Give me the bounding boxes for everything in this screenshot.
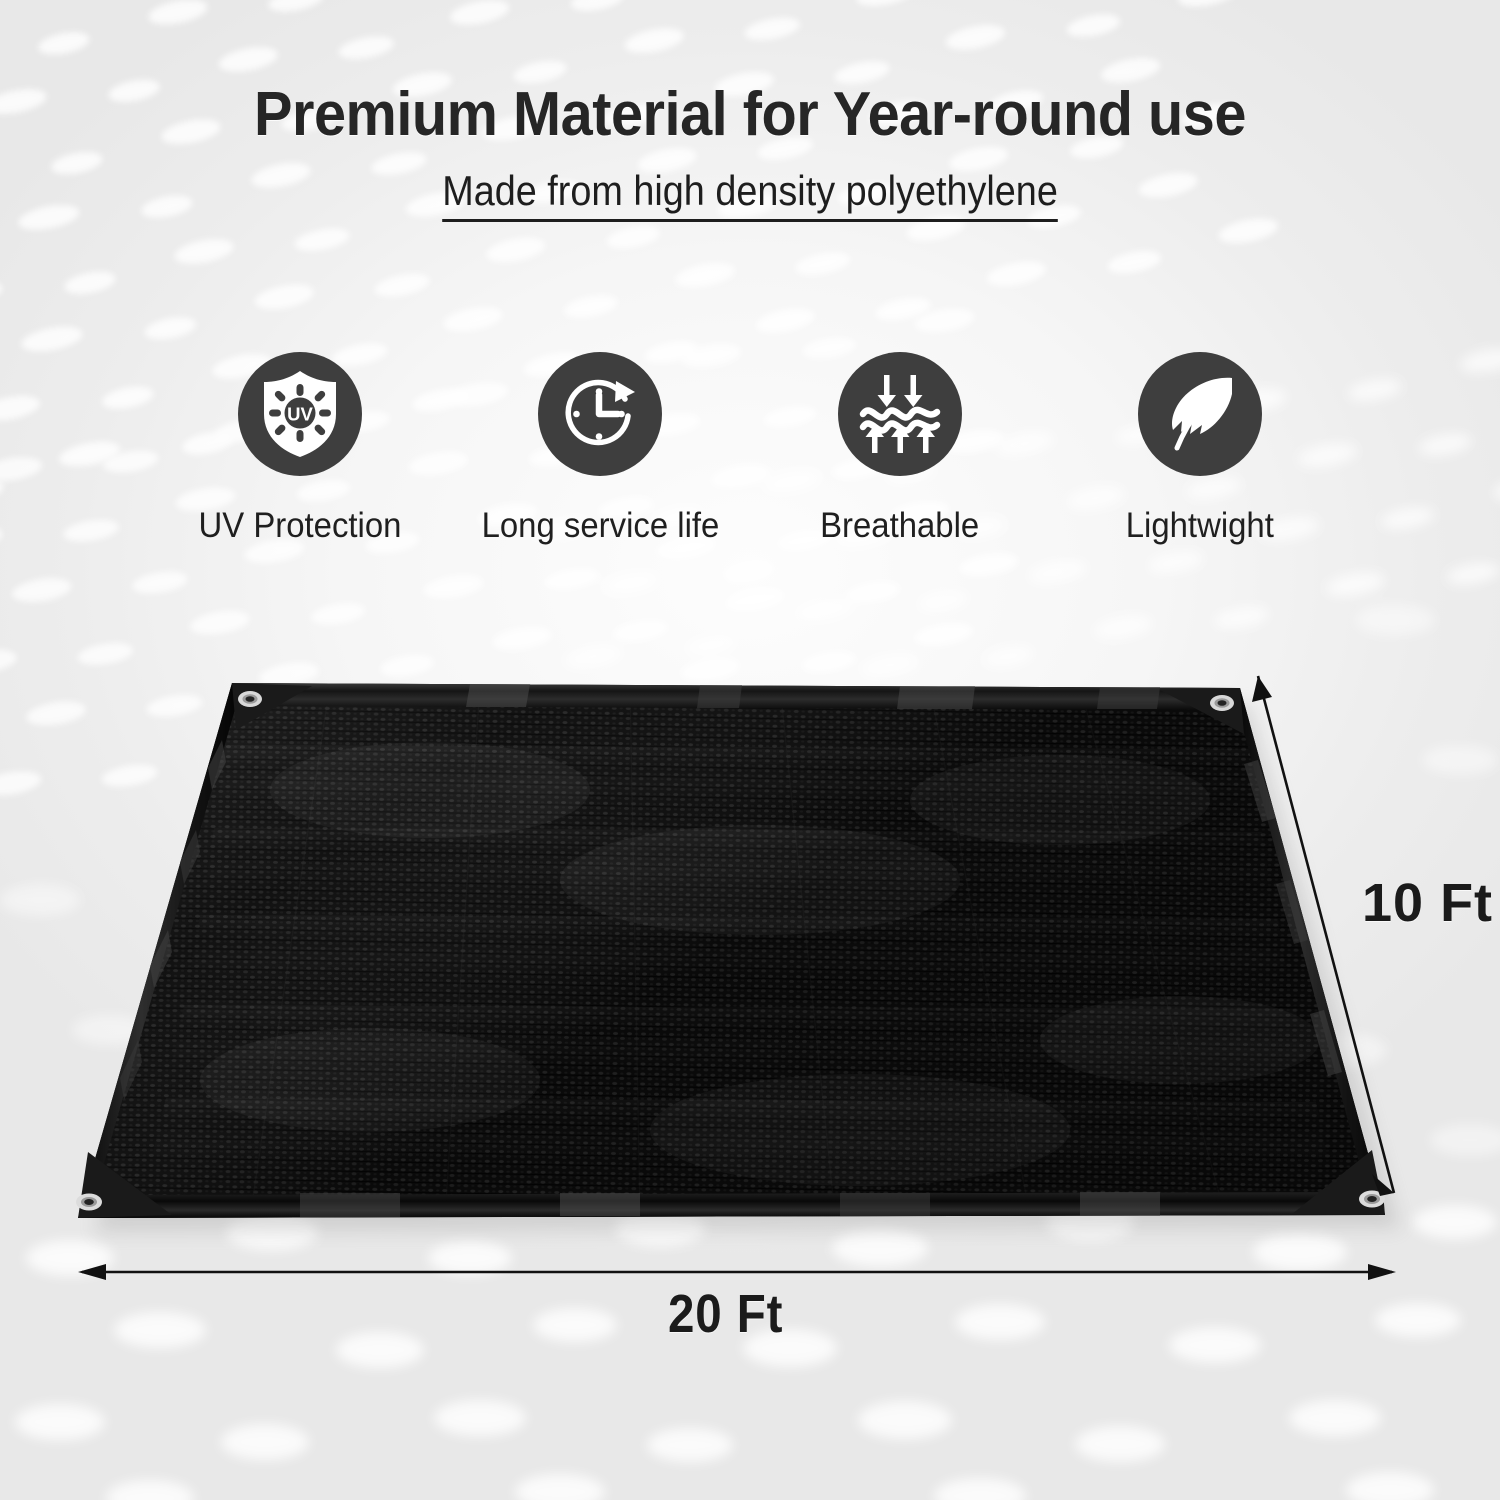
header-block: Premium Material for Year-round use Made…: [0, 84, 1500, 222]
dimension-label-height: 10 Ft: [1362, 872, 1493, 934]
product-infographic-page: Premium Material for Year-round use Made…: [0, 0, 1500, 1500]
feature-label-long-service-life: Long service life: [481, 506, 719, 546]
feather-icon: [1138, 352, 1262, 476]
page-subtitle: Made from high density polyethylene: [442, 170, 1058, 222]
feature-item-long-service-life: Long service life: [450, 352, 750, 546]
uv-shield-icon: UV: [238, 352, 362, 476]
page-title: Premium Material for Year-round use: [53, 84, 1448, 146]
feature-item-lightwight: Lightwight: [1050, 352, 1350, 546]
feature-label-breathable: Breathable: [820, 506, 979, 546]
feature-list: UV UV Protection: [150, 352, 1350, 546]
background-dot-pattern: [0, 0, 1500, 1500]
feature-item-breathable: Breathable: [750, 352, 1050, 546]
page-subtitle-wrap: Made from high density polyethylene: [0, 170, 1500, 222]
feature-label-lightwight: Lightwight: [1126, 506, 1274, 546]
clock-arrow-icon: [538, 352, 662, 476]
svg-text:UV: UV: [287, 404, 313, 425]
dimension-label-width: 20 Ft: [668, 1283, 783, 1345]
feature-item-uv-protection: UV UV Protection: [150, 352, 450, 546]
feature-label-uv-protection: UV Protection: [199, 506, 402, 546]
airflow-waves-icon: [838, 352, 962, 476]
